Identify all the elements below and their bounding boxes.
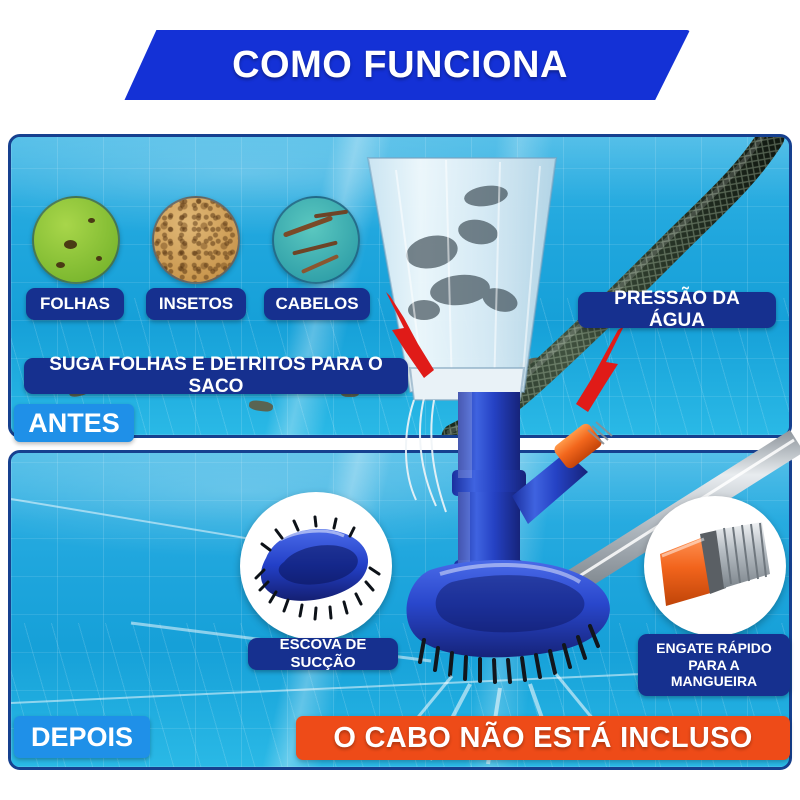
label-quick-connector-line2: PARA A	[688, 657, 740, 674]
label-cabelos: CABELOS	[264, 288, 370, 320]
label-suction-callout-text: SUGA FOLHAS E DETRITOS PARA O SACO	[36, 354, 396, 399]
quick-connector-illustration	[644, 496, 786, 636]
disclaimer-text: O CABO NÃO ESTÁ INCLUSO	[333, 722, 752, 755]
speck	[292, 240, 338, 255]
label-suction-callout: SUGA FOLHAS E DETRITOS PARA O SACO	[24, 358, 408, 394]
swatch-insetos	[152, 196, 240, 284]
swatch-folhas	[32, 196, 120, 284]
speck	[56, 262, 65, 268]
speck	[88, 218, 95, 223]
disclaimer-banner: O CABO NÃO ESTÁ INCLUSO	[296, 716, 790, 760]
header-banner: COMO FUNCIONA	[110, 30, 690, 100]
detail-circle-brush	[240, 492, 392, 640]
label-quick-connector-line1: ENGATE RÁPIDO	[656, 640, 772, 657]
label-water-pressure-text: PRESSÃO DA ÁGUA	[590, 288, 764, 333]
swatch-cabelos	[272, 196, 360, 284]
speck	[154, 198, 238, 282]
label-folhas-text: FOLHAS	[40, 294, 110, 314]
label-water-pressure: PRESSÃO DA ÁGUA	[578, 292, 776, 328]
suction-brush-illustration	[240, 492, 392, 640]
page-title: COMO FUNCIONA	[232, 44, 568, 87]
label-suction-brush: ESCOVA DE SUCÇÃO	[248, 638, 398, 670]
label-cabelos-text: CABELOS	[275, 294, 358, 314]
speck	[283, 215, 334, 237]
speck	[96, 256, 102, 261]
label-quick-connector-line3: MANGUEIRA	[671, 673, 757, 690]
speck	[301, 254, 339, 274]
tag-depois: DEPOIS	[14, 716, 150, 758]
label-insetos-text: INSETOS	[159, 294, 233, 314]
detail-circle-connector	[644, 496, 786, 636]
tag-depois-text: DEPOIS	[31, 722, 133, 753]
label-insetos: INSETOS	[146, 288, 246, 320]
tag-antes: ANTES	[14, 404, 134, 442]
tag-antes-text: ANTES	[28, 408, 120, 439]
speck	[64, 240, 77, 249]
label-suction-brush-text: ESCOVA DE SUCÇÃO	[260, 636, 386, 671]
label-folhas: FOLHAS	[26, 288, 124, 320]
label-quick-connector: ENGATE RÁPIDO PARA A MANGUEIRA	[638, 634, 790, 696]
